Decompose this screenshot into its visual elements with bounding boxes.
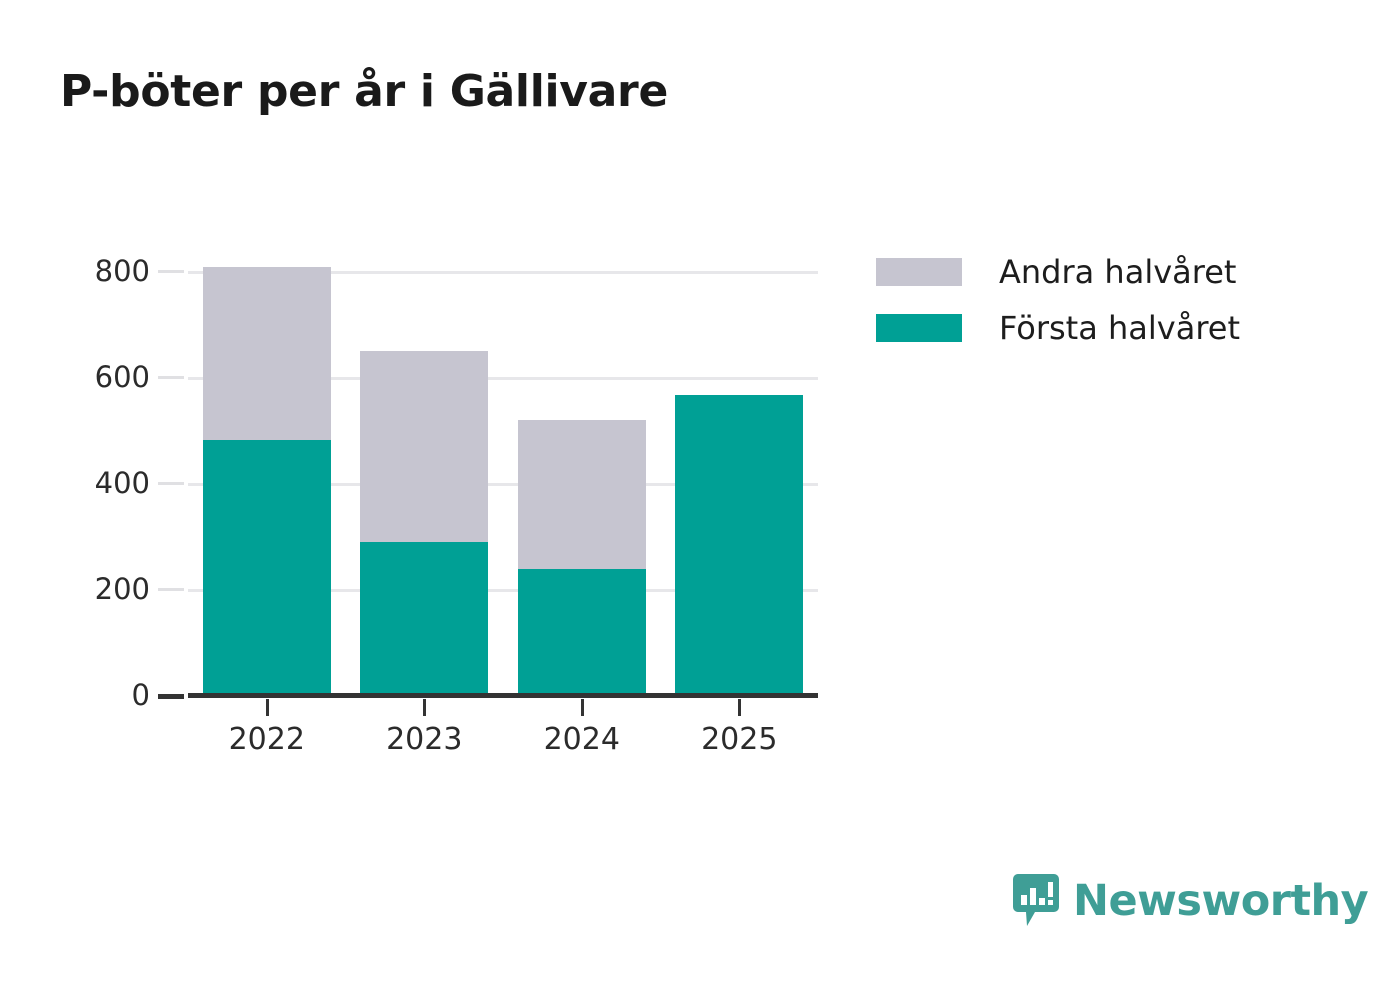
legend-label: Andra halvåret: [999, 253, 1236, 291]
legend-label: Första halvåret: [999, 309, 1240, 347]
legend: Andra halvåretFörsta halvåret: [876, 244, 1240, 356]
bar-segment-forsta-halvaret[interactable]: [203, 440, 331, 695]
y-axis-tick: [158, 588, 184, 591]
bar-stack[interactable]: [360, 271, 488, 695]
bar-chart-speech-bubble-icon: [1013, 874, 1059, 928]
page-title: P-böter per år i Gällivare: [60, 66, 668, 117]
x-axis-tick: [581, 699, 584, 716]
x-axis-tick-label: 2023: [386, 722, 462, 757]
y-axis-tick: [158, 482, 184, 485]
bar-segment-forsta-halvaret[interactable]: [675, 395, 803, 695]
x-axis-line: [188, 693, 818, 698]
bar-segment-andra-halvaret[interactable]: [203, 267, 331, 440]
y-axis-tick-label: 0: [50, 678, 150, 712]
legend-swatch: [876, 258, 962, 286]
legend-item[interactable]: Första halvåret: [876, 300, 1240, 356]
x-axis-tick-label: 2025: [701, 722, 777, 757]
y-axis-tick: [158, 270, 184, 273]
y-axis-tick: [158, 694, 184, 699]
y-axis-tick-label: 400: [50, 466, 150, 500]
x-axis-tick-label: 2024: [544, 722, 620, 757]
bar-segment-forsta-halvaret[interactable]: [518, 569, 646, 695]
x-axis-tick: [738, 699, 741, 716]
bar-stack[interactable]: [675, 271, 803, 695]
bar-stack[interactable]: [518, 271, 646, 695]
y-axis-tick-label: 600: [50, 360, 150, 394]
x-axis-tick-label: 2022: [229, 722, 305, 757]
bar-segment-andra-halvaret[interactable]: [518, 420, 646, 569]
x-axis-tick: [266, 699, 269, 716]
y-axis-labels: 0200400600800: [40, 0, 150, 999]
bar-segment-andra-halvaret[interactable]: [360, 351, 488, 542]
plot-area: [188, 271, 818, 695]
newsworthy-logo: Newsworthy: [1013, 874, 1368, 928]
bar-segment-forsta-halvaret[interactable]: [360, 542, 488, 695]
legend-swatch: [876, 314, 962, 342]
brand-name: Newsworthy: [1073, 876, 1368, 926]
y-axis-tick: [158, 376, 184, 379]
legend-item[interactable]: Andra halvåret: [876, 244, 1240, 300]
y-axis-tick-label: 800: [50, 254, 150, 288]
x-axis-tick: [423, 699, 426, 716]
bar-stack[interactable]: [203, 271, 331, 695]
y-axis-tick-label: 200: [50, 572, 150, 606]
